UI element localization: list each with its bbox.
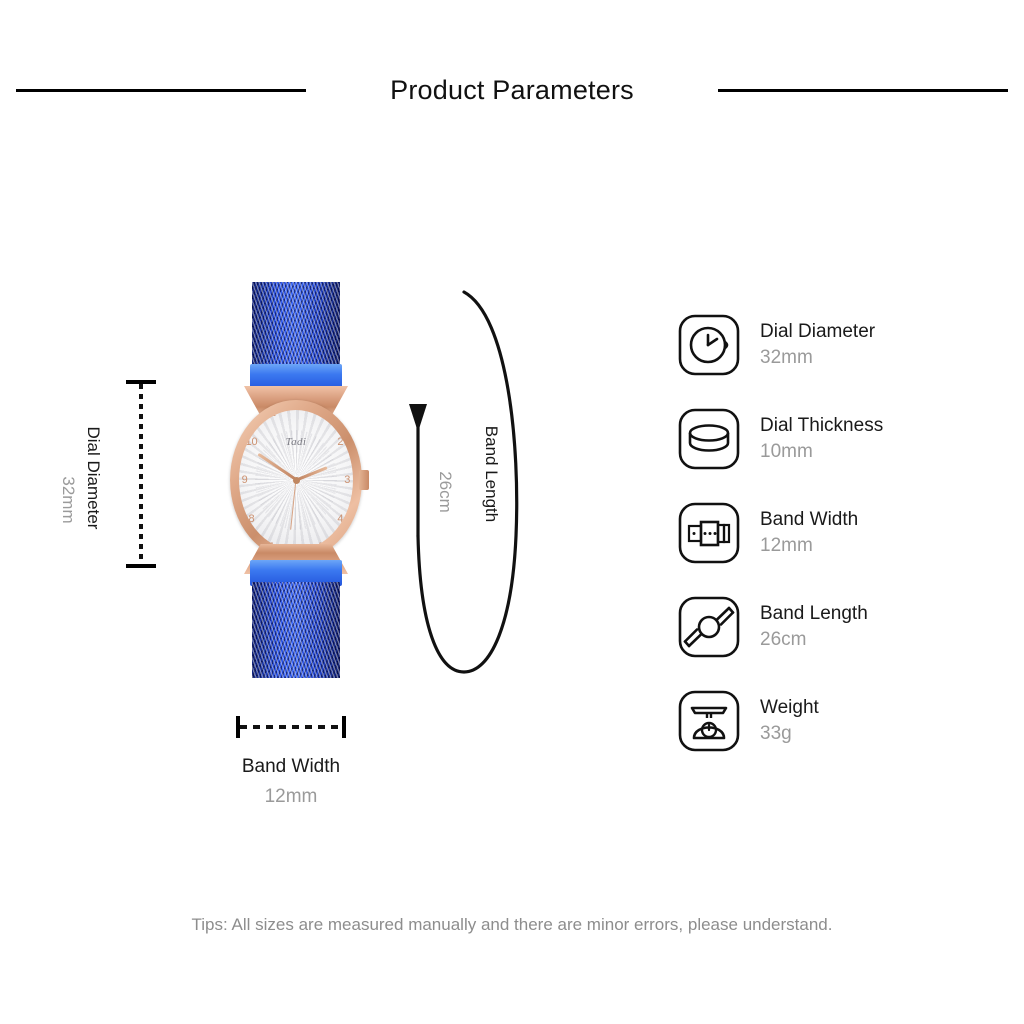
buckle-icon	[676, 500, 742, 566]
spec-label: Weight	[760, 695, 819, 721]
band-width-dimension-line	[236, 716, 346, 738]
scale-icon	[676, 688, 742, 754]
footer-tips: Tips: All sizes are measured manually an…	[0, 915, 1024, 935]
band-width-label: Band Width	[176, 752, 406, 782]
dial-diameter-value: 32mm	[58, 440, 78, 560]
dial-numeral: 3	[339, 473, 353, 487]
title-rule-right	[718, 89, 1008, 92]
watch-case: Tadi 121234567891011	[230, 400, 362, 560]
spec-label: Dial Thickness	[760, 413, 883, 439]
mesh-band-upper	[252, 282, 340, 368]
page-header: Product Parameters	[0, 62, 1024, 118]
dial-numeral: 7	[262, 540, 278, 550]
band-length-loop-arrow	[404, 286, 524, 678]
title-rule-left	[16, 89, 306, 92]
spec-value: 10mm	[760, 439, 883, 465]
hand-pin	[293, 477, 300, 484]
spec-row-weight: Weight 33g	[676, 674, 1006, 768]
spec-value: 33g	[760, 721, 819, 747]
dimension-dashed-line-horizontal	[240, 725, 342, 729]
dial-numeral: 11	[262, 410, 278, 420]
band-width-value: 12mm	[176, 782, 406, 812]
spec-value: 12mm	[760, 533, 858, 559]
dimension-cap-bottom	[126, 564, 156, 568]
disc-thickness-icon	[676, 406, 742, 472]
spec-label: Dial Diameter	[760, 319, 875, 345]
dial-numeral: 1	[314, 410, 330, 420]
spec-row-dial-thickness: Dial Thickness 10mm	[676, 392, 1006, 486]
watch-face-icon	[676, 312, 742, 378]
spec-value: 32mm	[760, 345, 875, 371]
dial-diameter-dimension-line	[126, 380, 156, 568]
dial-numeral: 4	[332, 512, 348, 526]
mesh-band-lower	[252, 582, 340, 678]
dial-numeral: 8	[244, 512, 260, 526]
spec-label: Band Length	[760, 601, 868, 627]
dimension-dashed-line	[139, 384, 143, 564]
dial-diameter-label: Dial Diameter	[83, 408, 103, 548]
watch-crown	[359, 470, 369, 490]
band-width-annotation: Band Width 12mm	[176, 752, 406, 812]
dimension-cap-right	[342, 716, 346, 738]
watch-strap-icon	[676, 594, 742, 660]
second-hand	[290, 480, 297, 530]
dial-numeral: 5	[314, 540, 330, 550]
spec-list: Dial Diameter 32mm Dial Thickness 10mm	[676, 298, 1006, 768]
dial-numeral: 10	[244, 435, 260, 449]
dial-diameter-annotation: Dial Diameter 32mm	[52, 390, 122, 570]
dial-numeral: 2	[332, 435, 348, 449]
spec-label: Band Width	[760, 507, 858, 533]
hour-hand	[295, 466, 327, 481]
spec-value: 26cm	[760, 627, 868, 653]
dial-numeral: 9	[239, 473, 253, 487]
spec-row-band-length: Band Length 26cm	[676, 580, 1006, 674]
watch-dial: Tadi 121234567891011	[239, 410, 353, 550]
spec-row-dial-diameter: Dial Diameter 32mm	[676, 298, 1006, 392]
minute-hand	[257, 453, 297, 481]
watch-product-image: Tadi 121234567891011	[222, 282, 370, 678]
page-title: Product Parameters	[390, 75, 634, 106]
spec-row-band-width: Band Width 12mm	[676, 486, 1006, 580]
